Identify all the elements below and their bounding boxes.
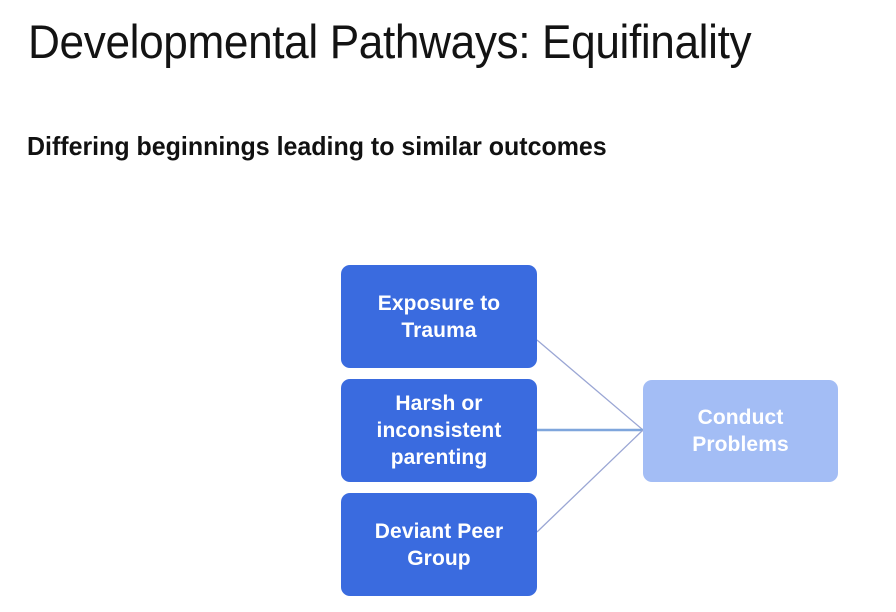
node-exposure-to-trauma[interactable]: Exposure to Trauma xyxy=(341,265,537,368)
node-deviant-peer-group[interactable]: Deviant Peer Group xyxy=(341,493,537,596)
node-label: Conduct Problems xyxy=(653,404,828,458)
connector-line-trauma-to-conduct xyxy=(537,340,643,430)
node-harsh-or-inconsistent-parenting[interactable]: Harsh or inconsistent parenting xyxy=(341,379,537,482)
equifinality-diagram: Exposure to Trauma Harsh or inconsistent… xyxy=(0,0,896,612)
node-label: Exposure to Trauma xyxy=(351,290,527,344)
slide-canvas: Developmental Pathways: Equifinality Dif… xyxy=(0,0,896,612)
node-label: Harsh or inconsistent parenting xyxy=(351,390,527,471)
connector-line-peer-to-conduct xyxy=(537,430,643,532)
node-conduct-problems[interactable]: Conduct Problems xyxy=(643,380,838,482)
node-label: Deviant Peer Group xyxy=(351,518,527,572)
